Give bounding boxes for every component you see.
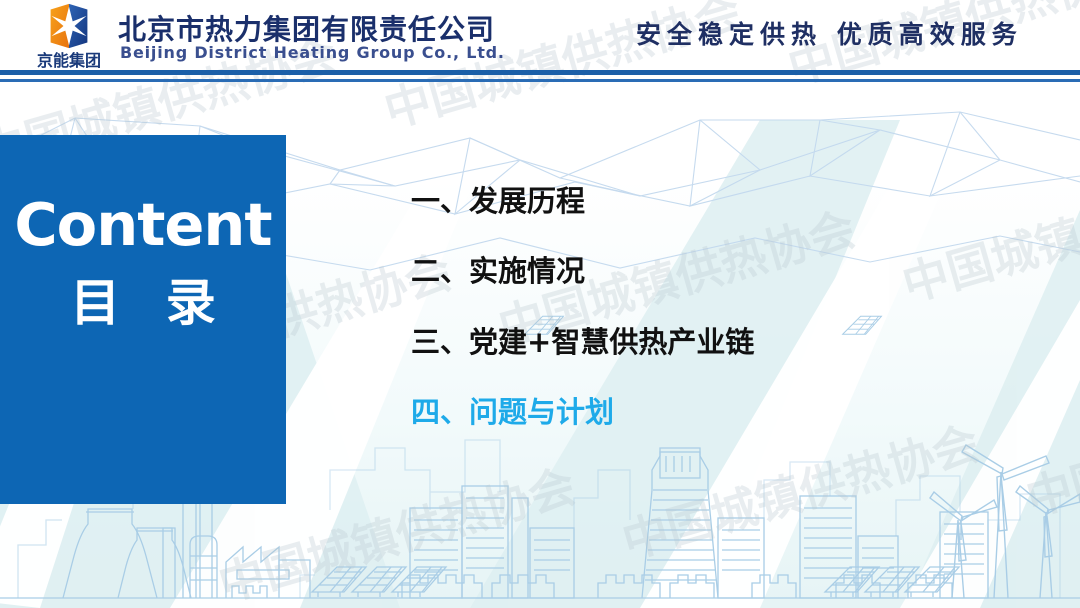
agenda-item-4[interactable]: 四、问题与计划 xyxy=(411,397,1051,427)
content-panel: Content 目 录 xyxy=(0,135,286,504)
landmark-tower xyxy=(642,448,718,598)
agenda-item-1-label: 发展历程 xyxy=(469,184,585,218)
battlement-wall xyxy=(402,575,952,598)
svg-text:中国城镇供热协会: 中国城镇供热协会 xyxy=(616,416,985,569)
factory-icon xyxy=(226,547,310,598)
header-slogan: 安全稳定供热 优质高效服务 xyxy=(636,15,1023,51)
solar-panel-icon xyxy=(825,567,959,597)
agenda-item-3[interactable]: 三、党建+智慧供热产业链 xyxy=(411,327,1051,357)
agenda-item-3-label: 党建+智慧供热产业链 xyxy=(469,325,754,359)
brand-logo: 京能集团 xyxy=(26,2,112,72)
agenda-item-1-number: 一、 xyxy=(411,184,469,218)
agenda-item-3-number: 三、 xyxy=(411,325,469,359)
chimney-icon xyxy=(163,488,212,598)
panel-title-cn: 目 录 xyxy=(0,278,286,328)
header-rule-thin xyxy=(0,79,1080,82)
agenda-item-2-label: 实施情况 xyxy=(469,254,585,288)
header-rule-thick xyxy=(0,70,1080,75)
wind-turbine-icon xyxy=(930,445,1080,598)
agenda-item-4-label: 问题与计划 xyxy=(469,395,614,429)
company-name-en: Beijing District Heating Group Co., Ltd. xyxy=(120,43,505,62)
building-block xyxy=(718,496,988,598)
agenda-item-4-number: 四、 xyxy=(411,395,469,429)
building-block xyxy=(410,486,574,598)
agenda-list: 一、发展历程 二、实施情况 三、党建+智慧供热产业链 四、问题与计划 xyxy=(411,186,1051,428)
agenda-item-2-number: 二、 xyxy=(411,254,469,288)
slide-canvas: 中国城镇供热协会 中国城镇供热协会 中国城镇供热协会 中国城镇供热协会 中国城镇… xyxy=(0,0,1080,608)
agenda-item-1[interactable]: 一、发展历程 xyxy=(411,186,1051,216)
solar-panel-icon xyxy=(312,567,446,597)
slide-header: 京能集团 北京市热力集团有限责任公司 Beijing District Heat… xyxy=(0,0,1080,74)
panel-title-en: Content xyxy=(0,195,286,254)
cooling-tower-icon xyxy=(63,509,191,598)
agenda-item-2[interactable]: 二、实施情况 xyxy=(411,256,1051,286)
starburst-diamond-icon xyxy=(46,3,92,49)
brand-logo-label: 京能集团 xyxy=(26,47,112,71)
silo-icon xyxy=(190,536,217,598)
company-name-cn: 北京市热力集团有限责任公司 xyxy=(118,8,495,48)
